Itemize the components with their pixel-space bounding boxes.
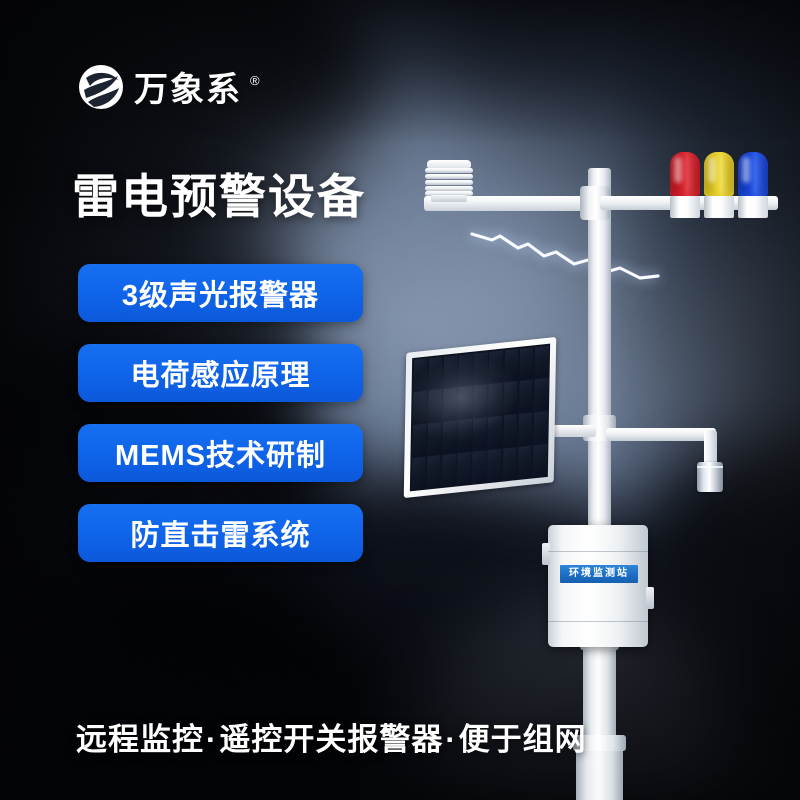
beacon-dome — [704, 152, 734, 196]
solar-cell — [427, 455, 441, 488]
shield-foot — [431, 195, 467, 202]
cabinet-mount-ear — [542, 543, 550, 565]
solar-cell — [412, 424, 426, 457]
solar-cell — [504, 381, 518, 414]
solar-cell — [472, 450, 486, 483]
beacon-dome — [670, 152, 700, 196]
solar-cell — [411, 457, 425, 490]
tagline-part-1: 远程监控 — [76, 722, 204, 757]
solar-cell — [473, 418, 487, 451]
electric-field-sensor — [697, 462, 723, 492]
cabinet-seam — [548, 621, 648, 622]
solar-cell — [442, 454, 456, 487]
beacon-base — [738, 196, 768, 218]
solar-cell — [443, 355, 457, 388]
solar-cell — [487, 449, 501, 482]
tagline-separator: · — [443, 722, 458, 757]
solar-cell — [473, 385, 487, 418]
shield-plate — [425, 180, 473, 185]
solar-cell — [534, 378, 548, 411]
radiation-shield-sensor-icon — [424, 160, 474, 202]
feature-pill-4[interactable]: 防直击雷系统 — [78, 504, 363, 562]
solar-panel — [404, 337, 557, 498]
solar-cell — [457, 452, 471, 485]
solar-cell — [443, 388, 457, 421]
solar-cell — [413, 391, 427, 424]
beacon-dome — [738, 152, 768, 196]
red-alarm-beacon — [670, 152, 700, 218]
solar-panel-strut — [548, 425, 596, 437]
solar-cell — [428, 356, 442, 389]
solar-cell — [533, 411, 547, 444]
brand-name: 万象系 — [134, 62, 242, 111]
solar-cell — [504, 348, 518, 381]
blue-alarm-beacon — [738, 152, 768, 218]
solar-cell — [489, 350, 503, 383]
solar-cell — [519, 380, 533, 413]
cabinet-mount-ear — [646, 587, 654, 609]
beacon-base — [670, 196, 700, 218]
solar-cell-grid — [410, 344, 550, 492]
solar-cell — [474, 352, 488, 385]
shield-plate — [425, 174, 473, 179]
solar-cell — [459, 353, 473, 386]
solar-cell — [457, 419, 471, 452]
solar-cell — [488, 383, 502, 416]
tagline-part-3: 便于组网 — [459, 722, 587, 757]
feature-pill-list: 3级声光报警器 电荷感应原理 MEMS技术研制 防直击雷系统 — [78, 264, 363, 562]
page-title: 雷电预警设备 — [72, 158, 366, 227]
tagline-separator: · — [204, 722, 219, 757]
shield-cap — [427, 160, 471, 168]
solar-cell — [518, 413, 532, 446]
solar-cell — [442, 421, 456, 454]
footer-tagline: 远程监控·遥控开关报警器·便于组网 — [76, 714, 587, 759]
feature-pill-3[interactable]: MEMS技术研制 — [78, 424, 363, 482]
solar-cell — [502, 447, 516, 480]
solar-cell — [488, 416, 502, 449]
feature-pill-1[interactable]: 3级声光报警器 — [78, 264, 363, 322]
shield-plate — [425, 168, 473, 173]
solar-cell — [427, 422, 441, 455]
solar-cell — [519, 347, 533, 380]
yellow-alarm-beacon — [704, 152, 734, 218]
control-cabinet: 环境监测站 — [548, 525, 648, 647]
brand-logo: 万象系 ® — [78, 62, 252, 111]
solar-cell — [458, 386, 472, 419]
solar-cell — [533, 444, 547, 477]
registered-trademark-mark: ® — [250, 73, 268, 88]
solar-cell — [518, 446, 532, 479]
cabinet-label: 环境监测站 — [560, 565, 638, 583]
beacon-base — [704, 196, 734, 218]
feature-pill-2[interactable]: 电荷感应原理 — [78, 344, 363, 402]
electric-field-sensor-arm — [606, 428, 716, 441]
solar-cell — [534, 345, 548, 378]
solar-cell — [428, 389, 442, 422]
solar-cell — [503, 414, 517, 447]
product-poster: 环境监测站 万象系 ® 雷电预警设备 3级声光报警器 电荷感应原理 MEMS技术… — [0, 0, 800, 800]
sphere-swoosh-logo-icon — [78, 64, 124, 110]
tagline-part-2: 遥控开关报警器 — [219, 722, 443, 757]
solar-cell — [413, 358, 427, 391]
cabinet-seam — [548, 551, 648, 552]
